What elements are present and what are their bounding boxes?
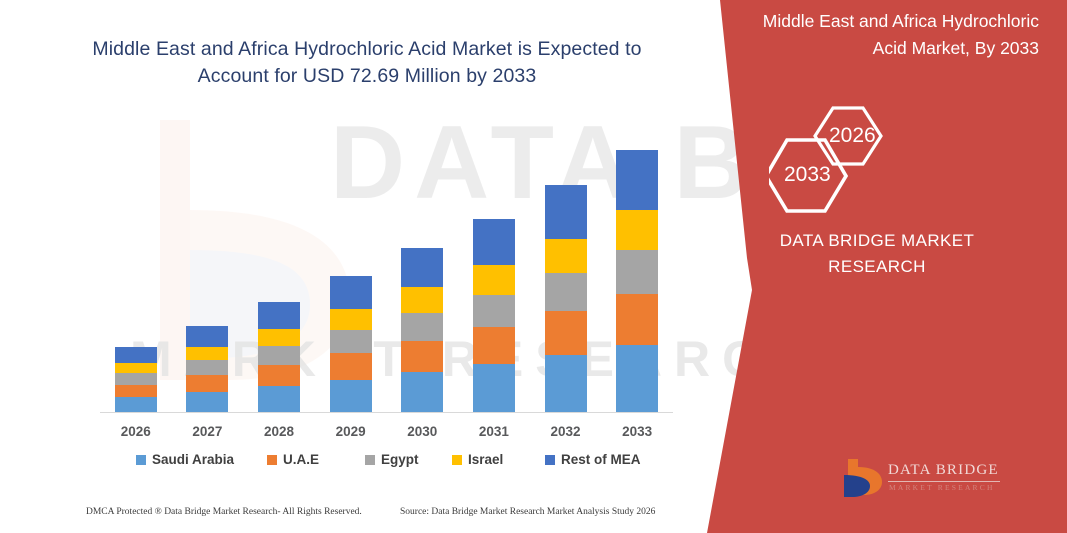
- segment-rest-of-mea-2031[interactable]: [473, 219, 515, 265]
- segment-u-a-e-2028[interactable]: [258, 365, 300, 386]
- segment-u-a-e-2029[interactable]: [330, 353, 372, 379]
- hex-label-2026: 2026: [829, 124, 876, 148]
- segment-egypt-2030[interactable]: [401, 313, 443, 341]
- logo-subtitle: MARKET RESEARCH: [889, 483, 995, 492]
- x-label-2028: 2028: [244, 424, 314, 439]
- segment-rest-of-mea-2029[interactable]: [330, 276, 372, 308]
- chart-title: Middle East and Africa Hydrochloric Acid…: [84, 36, 650, 90]
- brand-name: DATA BRIDGE MARKET RESEARCH: [747, 228, 1007, 280]
- bar-2028[interactable]: [258, 302, 300, 412]
- segment-saudi-arabia-2033[interactable]: [616, 345, 658, 412]
- segment-saudi-arabia-2031[interactable]: [473, 364, 515, 412]
- segment-rest-of-mea-2033[interactable]: [616, 150, 658, 210]
- footer-copyright: DMCA Protected ® Data Bridge Market Rese…: [86, 507, 362, 517]
- bar-2033[interactable]: [616, 150, 658, 412]
- bar-2029[interactable]: [330, 276, 372, 412]
- segment-u-a-e-2031[interactable]: [473, 327, 515, 364]
- segment-saudi-arabia-2029[interactable]: [330, 380, 372, 412]
- segment-rest-of-mea-2026[interactable]: [115, 347, 157, 363]
- segment-saudi-arabia-2032[interactable]: [545, 355, 587, 412]
- segment-israel-2031[interactable]: [473, 265, 515, 295]
- segment-u-a-e-2033[interactable]: [616, 294, 658, 345]
- segment-rest-of-mea-2032[interactable]: [545, 185, 587, 238]
- hexagon-group: 2026 2033: [769, 98, 949, 218]
- segment-israel-2026[interactable]: [115, 363, 157, 373]
- legend-label: Israel: [468, 452, 503, 467]
- hex-label-2033: 2033: [784, 163, 831, 187]
- segment-israel-2028[interactable]: [258, 329, 300, 346]
- segment-egypt-2033[interactable]: [616, 250, 658, 294]
- segment-rest-of-mea-2028[interactable]: [258, 302, 300, 328]
- segment-rest-of-mea-2027[interactable]: [186, 326, 228, 347]
- legend-label: Saudi Arabia: [152, 452, 234, 467]
- segment-u-a-e-2027[interactable]: [186, 375, 228, 392]
- panel-title: Middle East and Africa Hydrochloric Acid…: [729, 8, 1039, 62]
- chart-legend: Saudi ArabiaU.A.EEgyptIsraelRest of MEA: [100, 452, 673, 476]
- segment-israel-2033[interactable]: [616, 210, 658, 250]
- segment-saudi-arabia-2026[interactable]: [115, 397, 157, 412]
- x-label-2029: 2029: [316, 424, 386, 439]
- legend-item-rest-of-mea[interactable]: Rest of MEA: [545, 452, 641, 467]
- segment-egypt-2031[interactable]: [473, 295, 515, 327]
- segment-israel-2029[interactable]: [330, 309, 372, 330]
- bar-2032[interactable]: [545, 185, 587, 412]
- bar-2031[interactable]: [473, 219, 515, 412]
- hexagon-outlines-icon: [769, 98, 949, 218]
- bar-2030[interactable]: [401, 248, 443, 412]
- logo-mark-icon: [842, 455, 886, 499]
- legend-swatch-icon: [452, 455, 462, 465]
- segment-rest-of-mea-2030[interactable]: [401, 248, 443, 287]
- bar-2026[interactable]: [115, 347, 157, 412]
- data-bridge-logo: DATA BRIDGE MARKET RESEARCH: [842, 455, 1007, 503]
- legend-swatch-icon: [267, 455, 277, 465]
- segment-egypt-2027[interactable]: [186, 360, 228, 375]
- x-label-2030: 2030: [387, 424, 457, 439]
- segment-saudi-arabia-2027[interactable]: [186, 392, 228, 412]
- x-label-2031: 2031: [459, 424, 529, 439]
- x-label-2033: 2033: [602, 424, 672, 439]
- footer-source: Source: Data Bridge Market Research Mark…: [400, 507, 655, 517]
- legend-label: Rest of MEA: [561, 452, 641, 467]
- segment-israel-2027[interactable]: [186, 347, 228, 361]
- segment-u-a-e-2032[interactable]: [545, 311, 587, 355]
- legend-item-egypt[interactable]: Egypt: [365, 452, 419, 467]
- legend-label: U.A.E: [283, 452, 319, 467]
- x-axis-labels: 20262027202820292030203120322033: [100, 424, 673, 444]
- legend-item-saudi-arabia[interactable]: Saudi Arabia: [136, 452, 234, 467]
- legend-label: Egypt: [381, 452, 419, 467]
- chart-panel: DATA BRI MARKET RESEARCH Middle East and…: [0, 0, 740, 533]
- segment-egypt-2029[interactable]: [330, 330, 372, 353]
- segment-egypt-2026[interactable]: [115, 373, 157, 384]
- segment-saudi-arabia-2030[interactable]: [401, 372, 443, 412]
- segment-egypt-2032[interactable]: [545, 273, 587, 311]
- legend-swatch-icon: [545, 455, 555, 465]
- x-label-2026: 2026: [101, 424, 171, 439]
- legend-item-israel[interactable]: Israel: [452, 452, 503, 467]
- segment-u-a-e-2030[interactable]: [401, 341, 443, 373]
- segment-saudi-arabia-2028[interactable]: [258, 386, 300, 412]
- bar-2027[interactable]: [186, 326, 228, 412]
- x-axis-line: [100, 412, 673, 413]
- legend-swatch-icon: [365, 455, 375, 465]
- segment-israel-2032[interactable]: [545, 239, 587, 274]
- logo-divider: [888, 481, 1000, 482]
- segment-egypt-2028[interactable]: [258, 346, 300, 365]
- segment-israel-2030[interactable]: [401, 287, 443, 313]
- segment-u-a-e-2026[interactable]: [115, 385, 157, 398]
- stacked-bar-chart: [100, 140, 673, 413]
- x-label-2032: 2032: [531, 424, 601, 439]
- x-label-2027: 2027: [172, 424, 242, 439]
- legend-swatch-icon: [136, 455, 146, 465]
- legend-item-u-a-e[interactable]: U.A.E: [267, 452, 319, 467]
- logo-wordmark: DATA BRIDGE: [888, 462, 999, 479]
